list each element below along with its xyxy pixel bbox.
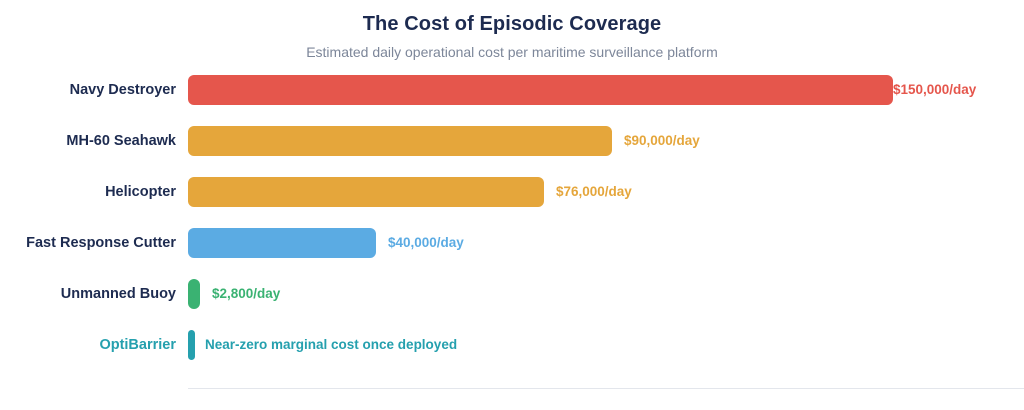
bar-value-mh-60-seahawk: $90,000/day [624,126,700,156]
bar-navy-destroyer[interactable] [188,75,893,105]
category-label-helicopter: Helicopter [0,177,176,207]
bar-row: Unmanned Buoy $2,800/day [0,279,1024,330]
bar-track-optibarrier: Near-zero marginal cost once deployed [188,330,1024,360]
bar-mh-60-seahawk[interactable] [188,126,612,156]
bar-track-mh-60-seahawk: $90,000/day [188,126,1024,156]
bar-row: OptiBarrier Near-zero marginal cost once… [0,330,1024,381]
chart-container: The Cost of Episodic Coverage Estimated … [0,0,1024,410]
bar-track-helicopter: $76,000/day [188,177,1024,207]
bar-track-fast-response-cutter: $40,000/day [188,228,1024,258]
bar-optibarrier[interactable] [188,330,195,360]
bar-fast-response-cutter[interactable] [188,228,376,258]
axis-baseline [188,388,1024,389]
bar-value-navy-destroyer: $150,000/day [893,75,976,105]
chart-title: The Cost of Episodic Coverage [0,10,1024,38]
bar-unmanned-buoy[interactable] [188,279,200,309]
bar-track-unmanned-buoy: $2,800/day [188,279,1024,309]
bar-value-optibarrier: Near-zero marginal cost once deployed [205,330,457,360]
category-label-optibarrier: OptiBarrier [0,330,176,360]
bar-row: MH-60 Seahawk $90,000/day [0,126,1024,177]
category-label-navy-destroyer: Navy Destroyer [0,75,176,105]
bar-track-navy-destroyer: $150,000/day [188,75,1024,105]
bar-value-fast-response-cutter: $40,000/day [388,228,464,258]
bar-value-helicopter: $76,000/day [556,177,632,207]
category-label-unmanned-buoy: Unmanned Buoy [0,279,176,309]
bar-value-unmanned-buoy: $2,800/day [212,279,280,309]
chart-header: The Cost of Episodic Coverage Estimated … [0,0,1024,63]
bar-row: Fast Response Cutter $40,000/day [0,228,1024,279]
bar-row: Helicopter $76,000/day [0,177,1024,228]
bar-row: Navy Destroyer $150,000/day [0,75,1024,126]
category-label-fast-response-cutter: Fast Response Cutter [0,228,176,258]
bar-helicopter[interactable] [188,177,544,207]
plot-area: Navy Destroyer $150,000/day MH-60 Seahaw… [0,75,1024,375]
category-label-mh-60-seahawk: MH-60 Seahawk [0,126,176,156]
chart-subtitle: Estimated daily operational cost per mar… [0,38,1024,63]
